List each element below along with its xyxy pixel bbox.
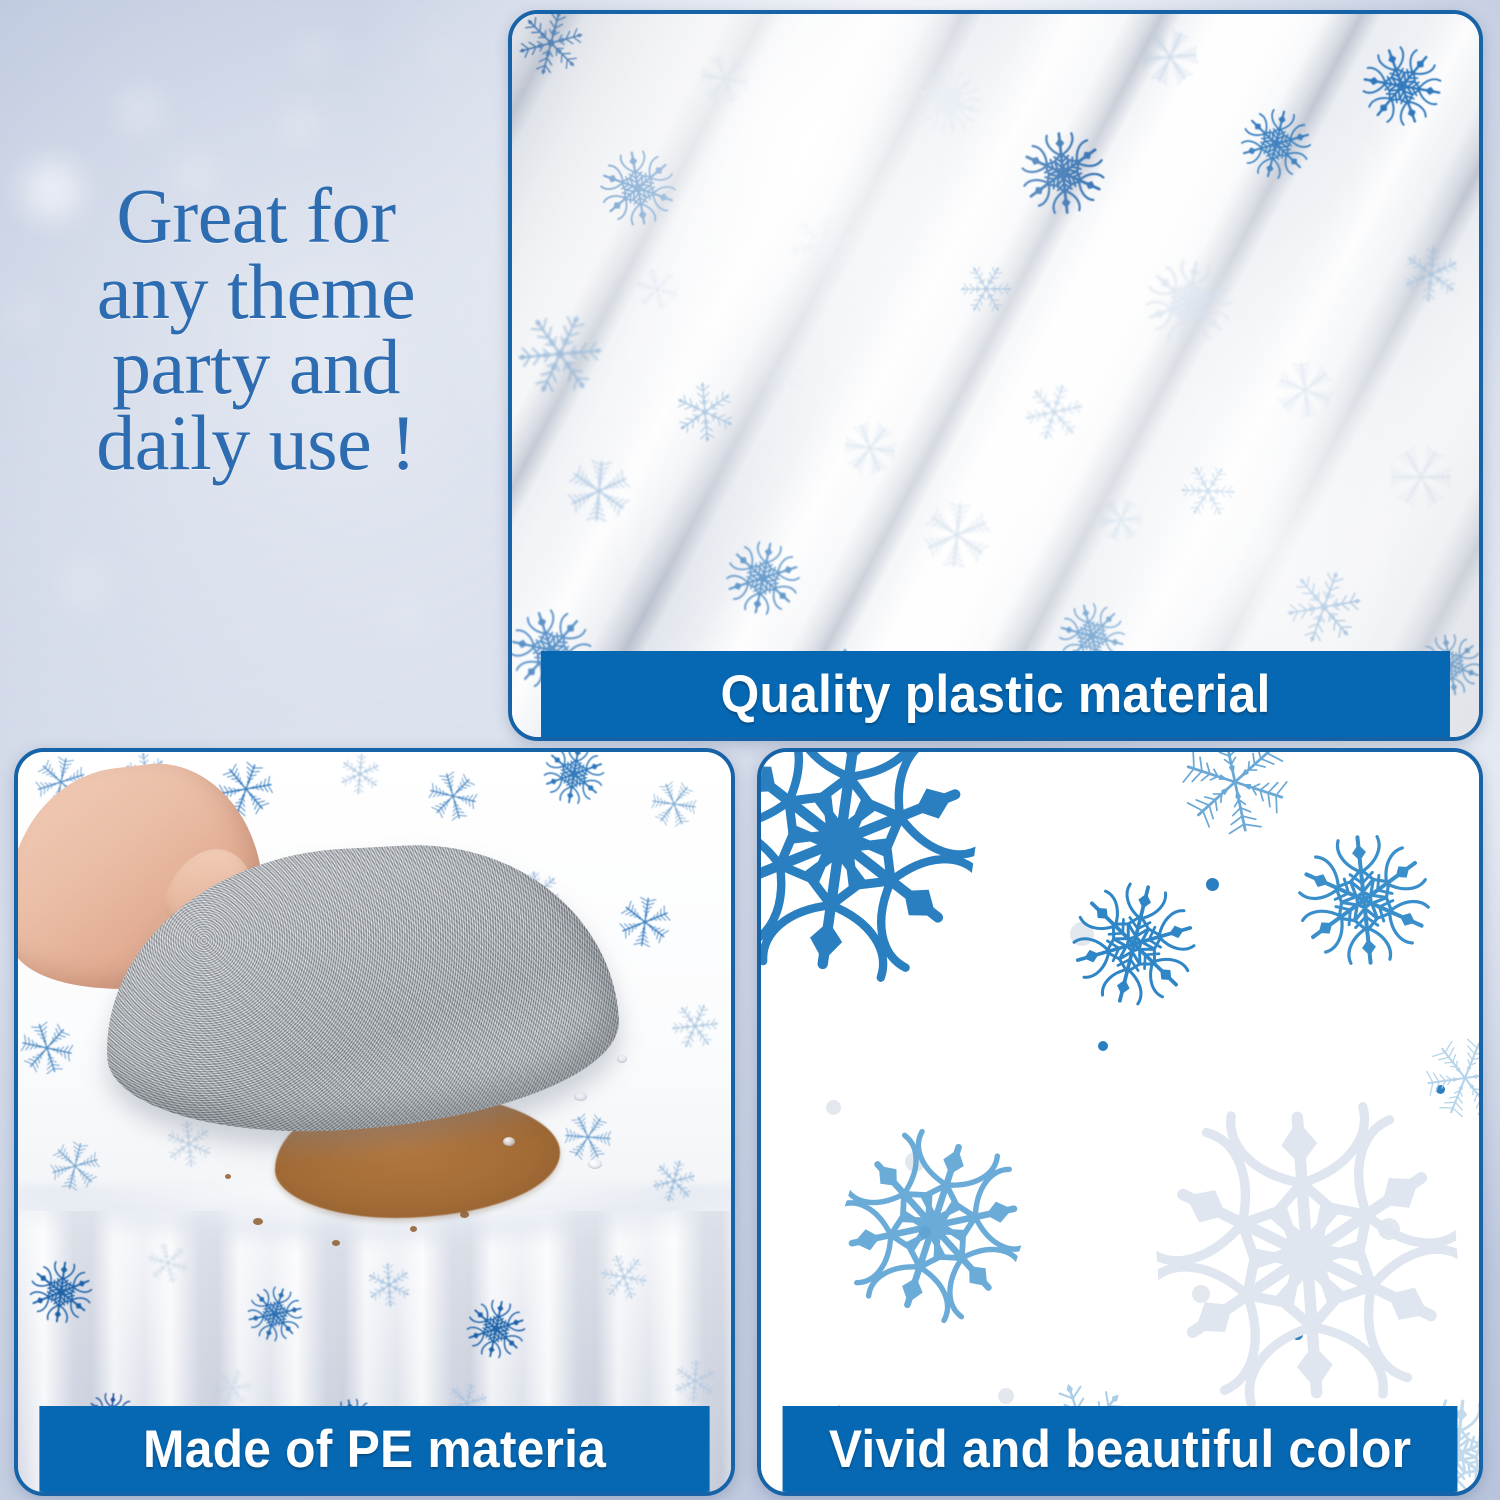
snowflake-icon xyxy=(141,1236,194,1289)
vivid-color-photo xyxy=(761,752,1479,1492)
snowflake-icon xyxy=(1287,823,1441,977)
snowflake-icon xyxy=(336,752,384,798)
coffee-droplet xyxy=(225,1174,231,1179)
snowflake-icon xyxy=(1164,752,1306,853)
headline-line-3: party and xyxy=(30,329,482,405)
plastic-material-photo xyxy=(512,14,1479,737)
bokeh-circle xyxy=(392,600,422,630)
snowflake-icon xyxy=(671,1356,720,1405)
water-droplet xyxy=(503,1137,515,1146)
snowflake-icon xyxy=(1056,866,1214,1024)
quality-plastic-material-panel[interactable]: Quality plastic material xyxy=(508,10,1483,741)
snowflake-icon xyxy=(662,993,728,1059)
page-headline: Great for any theme party and daily use … xyxy=(30,178,482,481)
caption-text: Vivid and beautiful color xyxy=(829,1419,1411,1480)
snowflake-icon xyxy=(1147,1095,1467,1415)
snowflake-field-bottom-right xyxy=(761,752,1479,1492)
snowflake-icon xyxy=(537,752,611,811)
headline-line-4: daily use ! xyxy=(30,405,482,481)
snowflake-icon xyxy=(418,762,487,831)
panel-caption: Quality plastic material xyxy=(541,651,1450,737)
headline-line-2: any theme xyxy=(30,254,482,330)
sheet-shading xyxy=(512,14,1479,737)
snowflake-icon xyxy=(23,1255,98,1330)
snowflake-icon xyxy=(761,752,992,993)
snowflake-icon xyxy=(820,1112,1047,1339)
headline-line-1: Great for xyxy=(30,178,482,254)
coffee-droplet xyxy=(460,1211,469,1218)
bokeh-circle xyxy=(284,108,318,142)
snowflake-icon xyxy=(363,1259,414,1310)
snowflake-icon xyxy=(41,1132,109,1200)
snowflake-icon xyxy=(459,1292,533,1366)
vivid-and-beautiful-color-panel[interactable]: Vivid and beautiful color xyxy=(757,748,1483,1496)
snowflake-icon xyxy=(18,1010,84,1086)
snowflake-icon xyxy=(646,1153,703,1210)
snowflake-icon xyxy=(613,889,679,955)
caption-text: Quality plastic material xyxy=(721,664,1271,725)
bokeh-circle xyxy=(118,88,162,132)
bokeh-circle xyxy=(300,38,326,64)
bokeh-circle xyxy=(430,42,454,66)
pe-material-photo xyxy=(18,752,731,1492)
snowflake-icon xyxy=(162,1117,217,1172)
snowflake-icon xyxy=(238,1278,311,1351)
panel-caption: Vivid and beautiful color xyxy=(783,1406,1458,1492)
panel-caption: Made of PE materia xyxy=(39,1406,709,1492)
made-of-pe-materia-panel[interactable]: Made of PE materia xyxy=(14,748,735,1496)
bokeh-circle xyxy=(60,560,108,608)
snowflake-icon xyxy=(640,770,708,838)
snowflake-icon xyxy=(592,1245,656,1309)
caption-text: Made of PE materia xyxy=(143,1419,606,1480)
infographic-canvas: Great for any theme party and daily use … xyxy=(0,0,1500,1500)
coffee-droplet xyxy=(410,1226,417,1232)
